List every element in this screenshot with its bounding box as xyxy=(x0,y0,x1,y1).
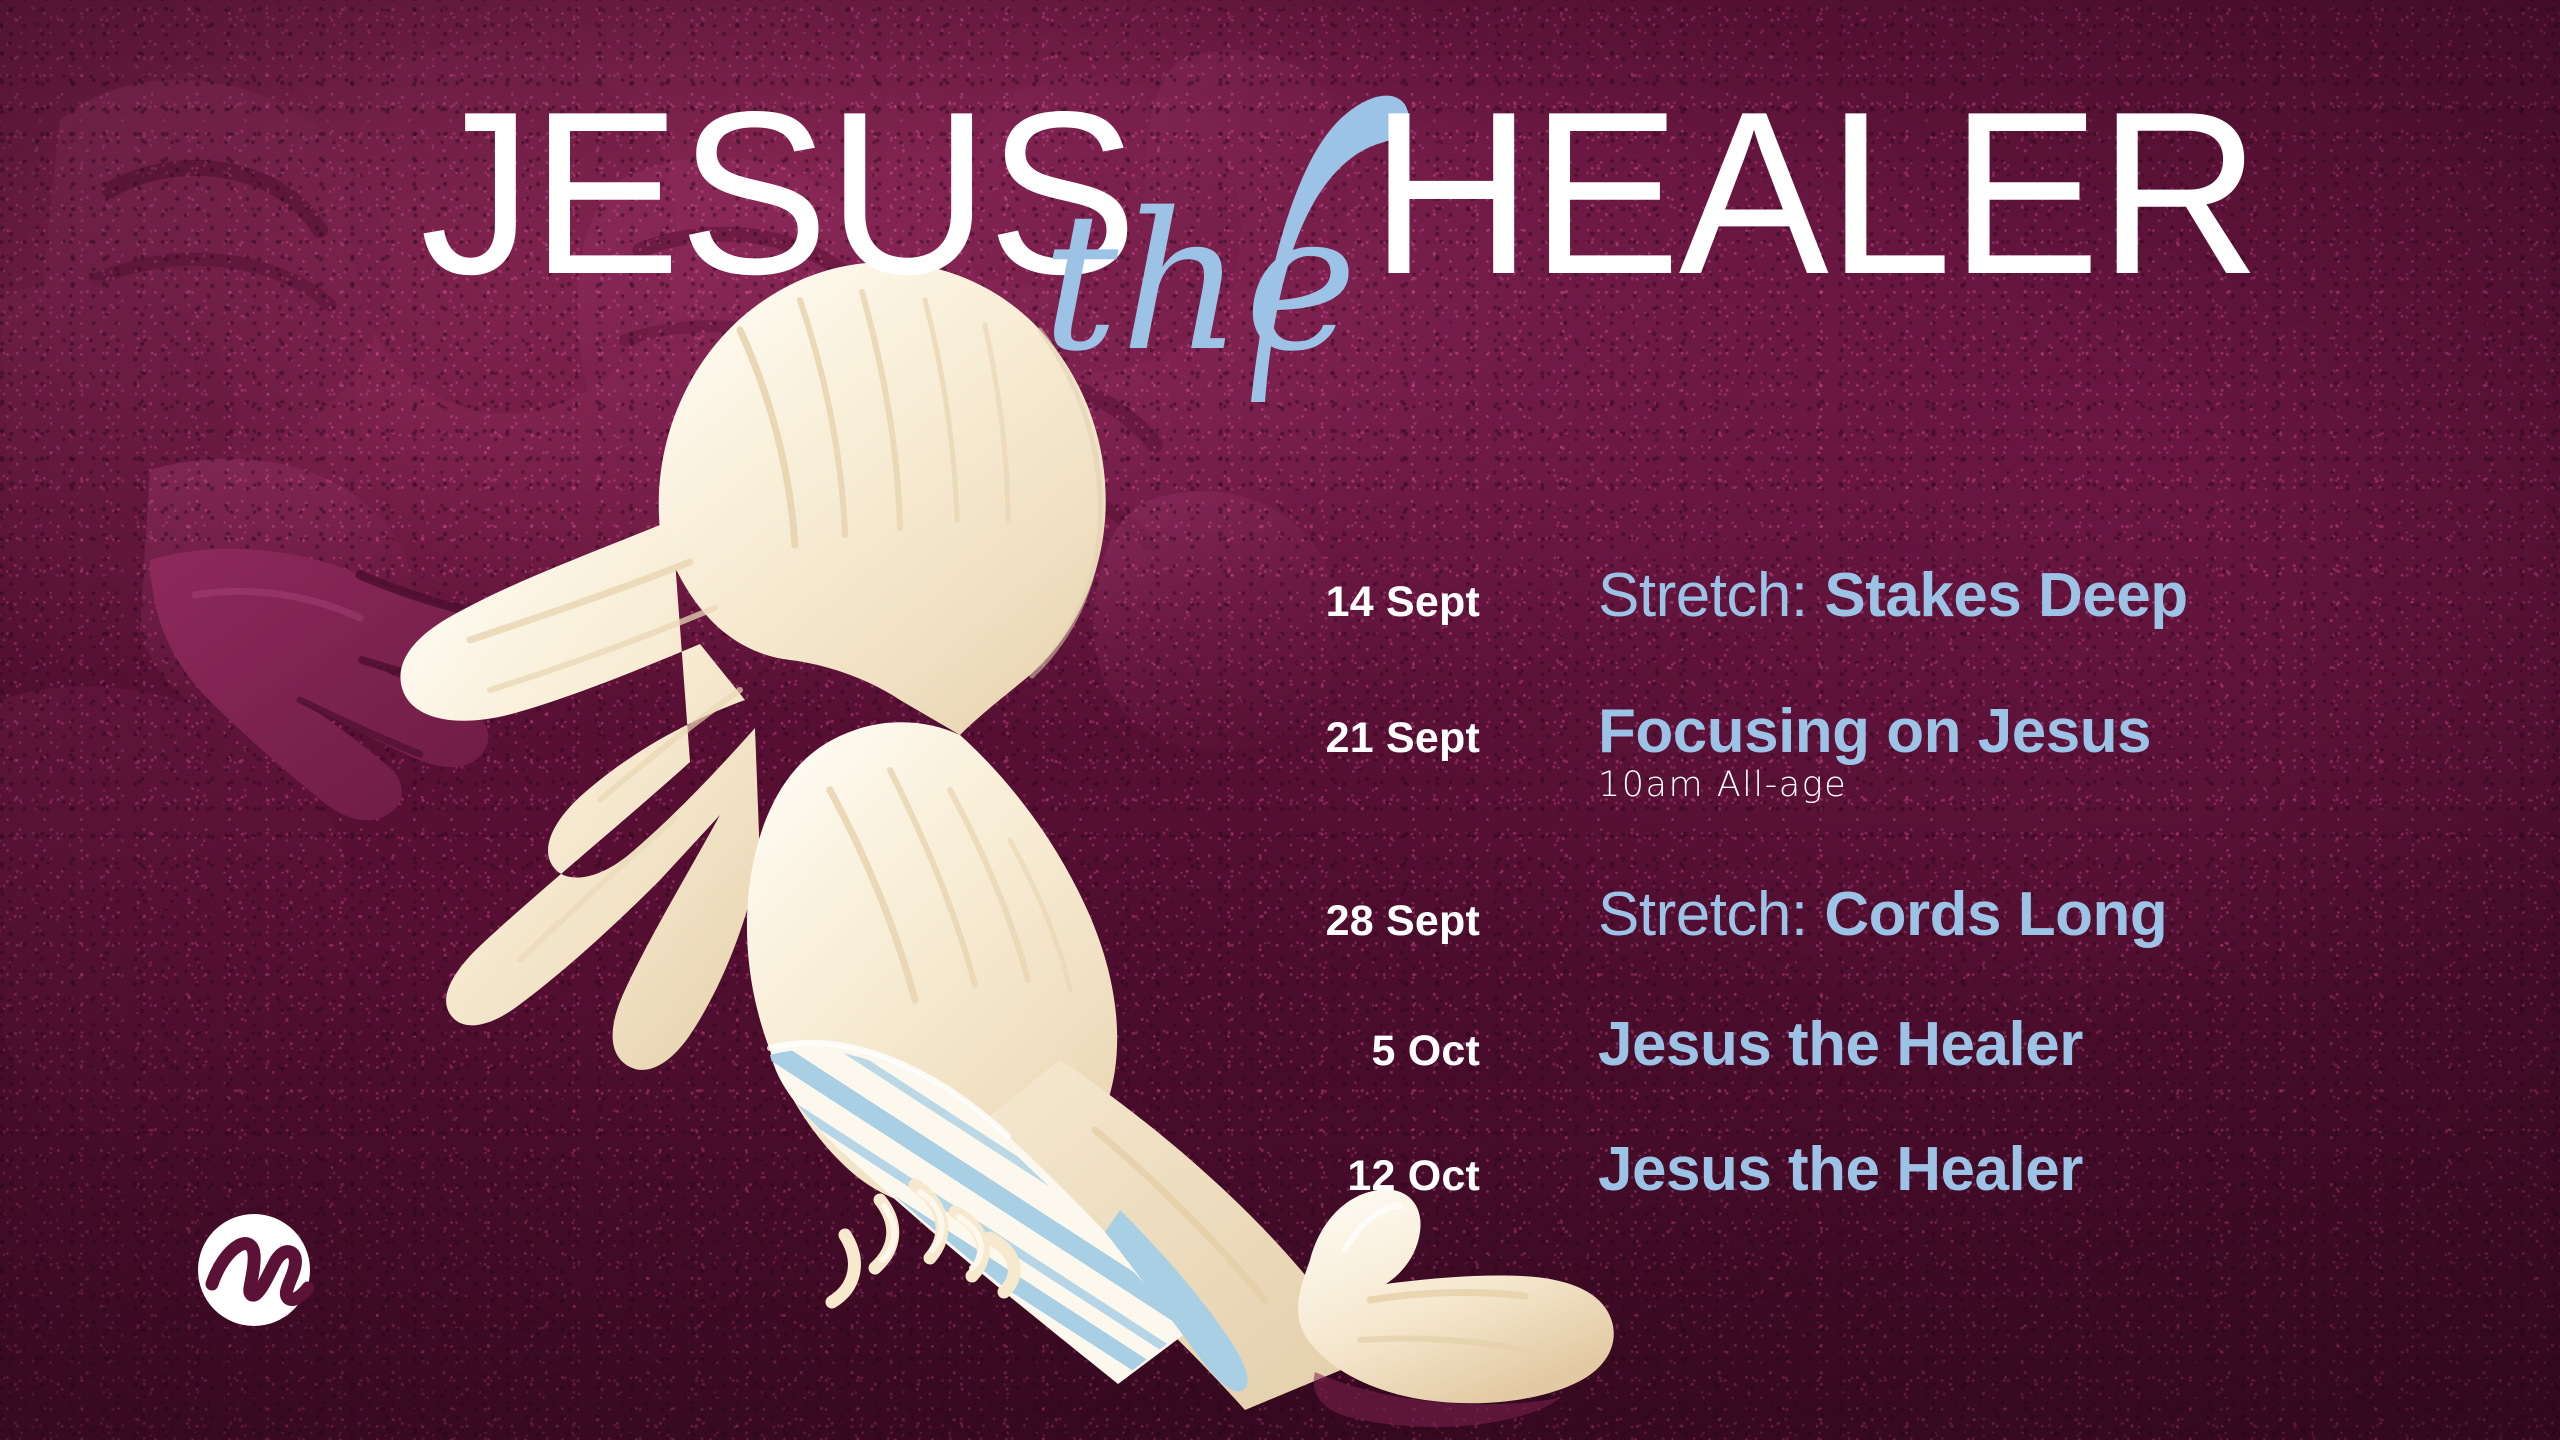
schedule-title-bold: Stakes Deep xyxy=(1824,561,2187,630)
schedule-title-col: Focusing on Jesus 10am All-age xyxy=(1598,700,2151,805)
schedule-title-bold: Focusing on Jesus xyxy=(1598,697,2151,766)
schedule-title-bold: Jesus the Healer xyxy=(1598,1135,2083,1204)
schedule-title: Stretch: Stakes Deep xyxy=(1598,564,2188,627)
schedule-title-light: Stretch: xyxy=(1598,561,1824,630)
sermon-schedule-list: 14 Sept Stretch: Stakes Deep 21 Sept Foc… xyxy=(1240,540,2560,1260)
schedule-title-bold: Jesus the Healer xyxy=(1598,1010,2083,1079)
schedule-row: 5 Oct Jesus the Healer xyxy=(1240,1013,2560,1076)
schedule-title-bold: Cords Long xyxy=(1824,880,2167,949)
schedule-title: Focusing on Jesus xyxy=(1598,700,2151,763)
schedule-date: 28 Sept xyxy=(1240,897,1480,946)
schedule-title: Stretch: Cords Long xyxy=(1598,883,2167,946)
schedule-subnote: 10am All-age xyxy=(1598,765,2151,805)
schedule-row: 12 Oct Jesus the Healer xyxy=(1240,1138,2560,1201)
schedule-date: 5 Oct xyxy=(1240,1027,1480,1076)
robed-figure-body xyxy=(400,262,1365,1410)
schedule-title-light: Stretch: xyxy=(1598,880,1824,949)
schedule-title-col: Stretch: Stakes Deep xyxy=(1598,564,2188,627)
schedule-title-col: Jesus the Healer xyxy=(1598,1013,2083,1076)
schedule-title: Jesus the Healer xyxy=(1598,1138,2083,1201)
schedule-title: Jesus the Healer xyxy=(1598,1013,2083,1076)
schedule-row: 14 Sept Stretch: Stakes Deep xyxy=(1240,564,2560,627)
schedule-date: 14 Sept xyxy=(1240,578,1480,627)
church-logo-m-icon xyxy=(196,1212,320,1336)
schedule-row: 28 Sept Stretch: Cords Long xyxy=(1240,883,2560,946)
schedule-title-col: Stretch: Cords Long xyxy=(1598,883,2167,946)
schedule-date: 12 Oct xyxy=(1240,1152,1480,1201)
poster-canvas: JESUS the HEALER 14 Sept Stretch: Stakes… xyxy=(0,0,2560,1440)
schedule-date: 21 Sept xyxy=(1240,714,1480,763)
schedule-title-col: Jesus the Healer xyxy=(1598,1138,2083,1201)
schedule-row: 21 Sept Focusing on Jesus 10am All-age xyxy=(1240,700,2560,805)
